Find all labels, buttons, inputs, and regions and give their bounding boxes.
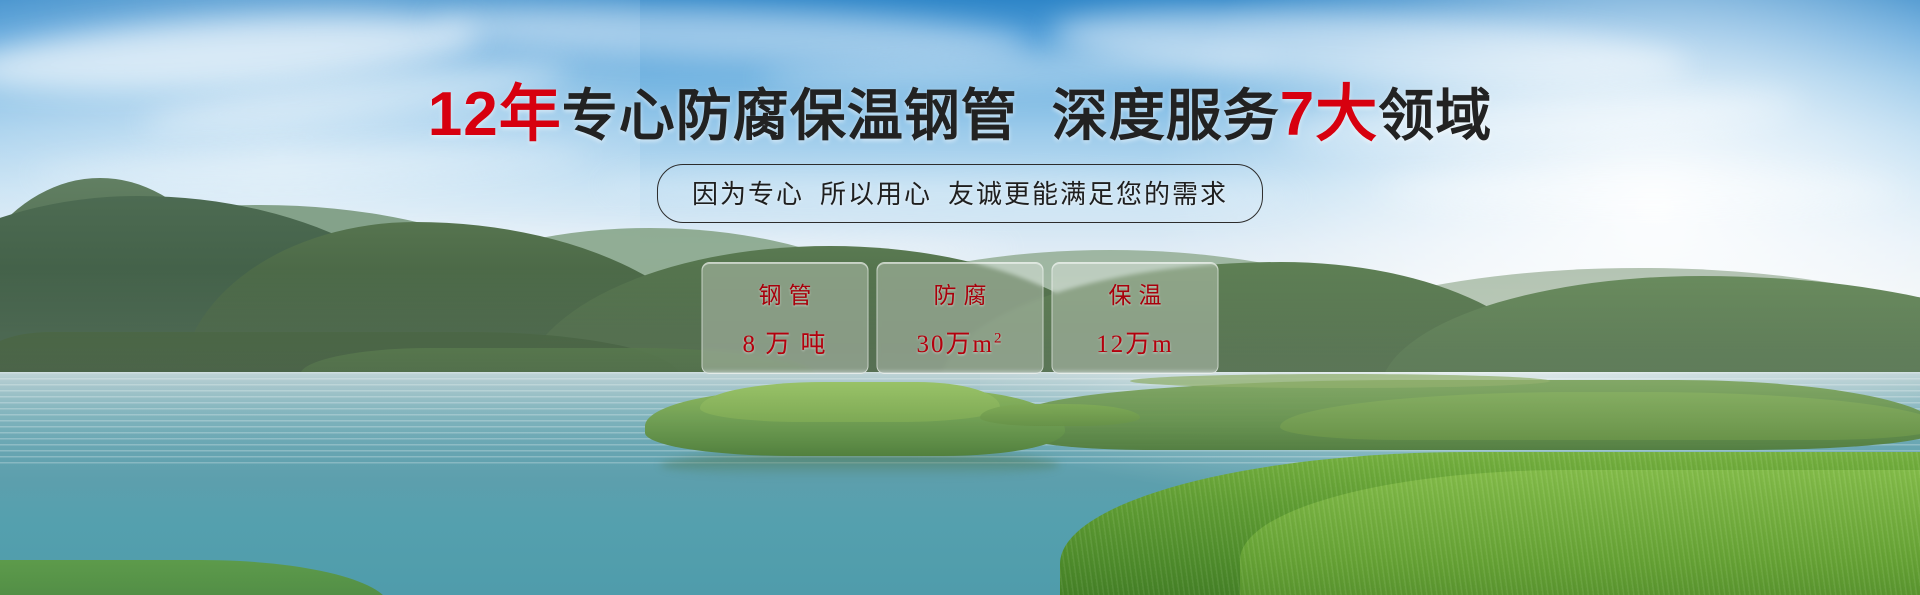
banner-headline: 12年专心防腐保温钢管深度服务7大领域 [0, 84, 1920, 146]
headline-fields: 领域 [1378, 84, 1492, 147]
stat-card-label: 保温 [1102, 276, 1169, 310]
stat-card-value-text: 12万m [1096, 331, 1173, 358]
stat-card-group: 钢管 8 万 吨 防腐 30万m2 保温 12万m [702, 262, 1219, 374]
subtitle-phrase-2: 所以用心 [820, 179, 932, 209]
stat-card-value: 8 万 吨 [742, 324, 827, 360]
subtitle-phrase-3: 友诚更能满足您的需求 [948, 179, 1228, 209]
subtitle-pill: 因为专心所以用心友诚更能满足您的需求 [657, 164, 1263, 223]
stat-card-label: 钢管 [752, 276, 819, 310]
hero-banner: 12年专心防腐保温钢管深度服务7大领域 因为专心所以用心友诚更能满足您的需求 钢… [0, 0, 1920, 595]
headline-main: 专心防腐保温钢管 [562, 84, 1018, 147]
banner-content: 12年专心防腐保温钢管深度服务7大领域 因为专心所以用心友诚更能满足您的需求 钢… [0, 0, 1920, 595]
stat-card-value: 12万m [1096, 324, 1173, 360]
stat-card-steel-pipe: 钢管 8 万 吨 [702, 262, 869, 374]
subtitle-phrase-1: 因为专心 [692, 179, 804, 209]
stat-card-value-unit: 2 [994, 331, 1004, 347]
stat-card-anticorrosion: 防腐 30万m2 [877, 262, 1044, 374]
headline-years: 12年 [428, 80, 562, 149]
stat-card-value-text: 8 万 吨 [742, 331, 827, 358]
headline-service: 深度服务 [1052, 84, 1280, 147]
stat-card-label: 防腐 [927, 276, 994, 310]
stat-card-value: 30万m2 [917, 324, 1004, 360]
stat-card-insulation: 保温 12万m [1052, 262, 1219, 374]
stat-card-value-text: 30万m [917, 331, 994, 358]
headline-seven: 7大 [1280, 80, 1378, 149]
